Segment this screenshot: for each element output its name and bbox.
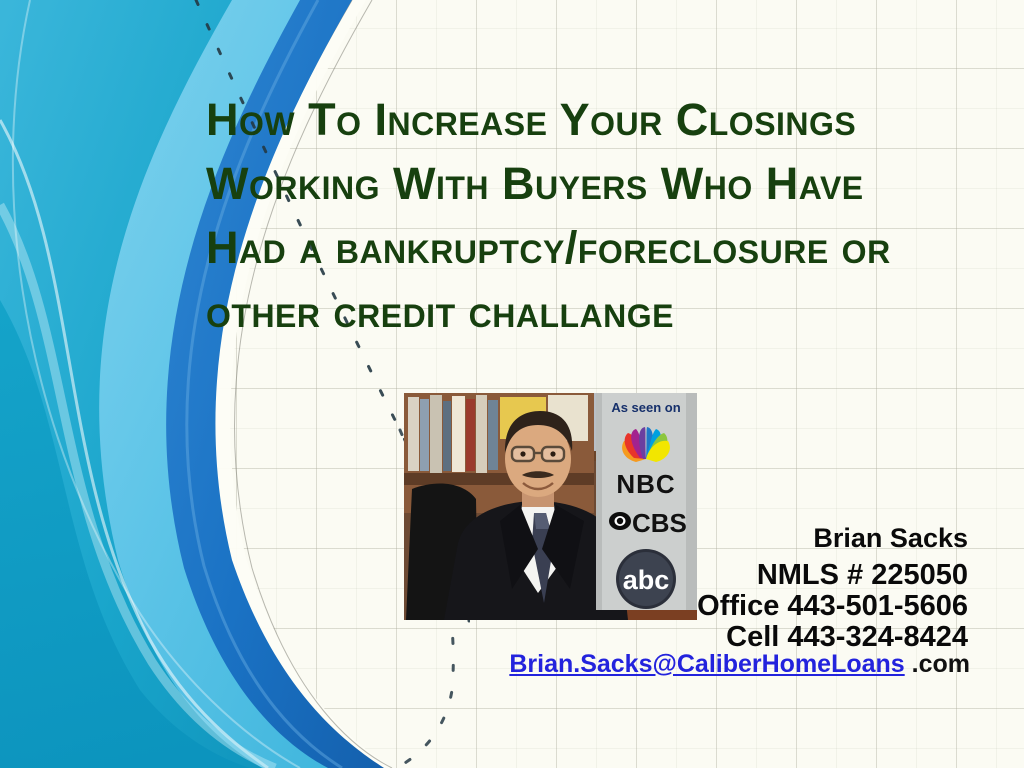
- email-line: Brian.Sacks@CaliberHomeLoans .com: [509, 650, 970, 679]
- presentation-slide: How To Increase Your Closings Working Wi…: [0, 0, 1024, 768]
- slide-title: How To Increase Your Closings Working Wi…: [206, 88, 996, 344]
- office-phone: Office 443-501-5606: [468, 591, 968, 622]
- title-line-2: Working With Buyers Who Have: [206, 152, 996, 216]
- title-line-1: How To Increase Your Closings: [206, 88, 996, 152]
- title-line-3: Had a bankruptcy/foreclosure or: [206, 216, 996, 280]
- contact-block: Brian Sacks NMLS # 225050 Office 443-501…: [468, 522, 968, 653]
- as-seen-on-label: As seen on: [611, 400, 680, 415]
- email-suffix: .com: [905, 650, 970, 678]
- cell-phone: Cell 443-324-8424: [468, 622, 968, 653]
- title-line-4: other credit challange: [206, 280, 996, 344]
- presenter-name: Brian Sacks: [468, 522, 968, 555]
- nbc-wordmark: NBC: [616, 469, 675, 499]
- nmls-number: NMLS # 225050: [468, 560, 968, 591]
- email-link[interactable]: Brian.Sacks@CaliberHomeLoans: [509, 650, 904, 678]
